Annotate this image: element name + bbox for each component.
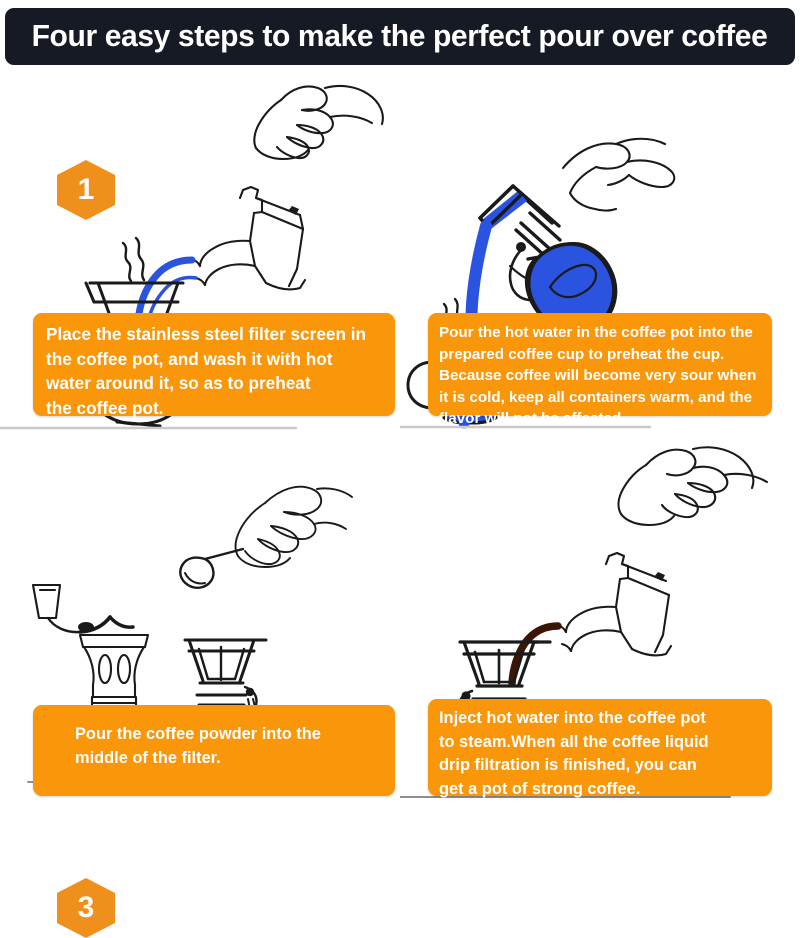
hand-icon (236, 487, 352, 567)
hand-icon (254, 86, 383, 159)
kettle-icon (557, 553, 671, 655)
step-number-3: 3 (78, 893, 95, 923)
step-number-1: 1 (78, 175, 95, 205)
step-caption-text-3: Pour the coffee powder into the middle o… (75, 722, 395, 770)
step-caption-text-2: Pour the hot water in the coffee pot int… (439, 322, 772, 430)
poster-title-bar: Four easy steps to make the perfect pour… (5, 8, 795, 65)
step-caption-text-4: Inject hot water into the coffee pot to … (439, 707, 772, 801)
step-caption-text-1: Place the stainless steel filter screen … (46, 322, 395, 420)
step-caption-box-1: Place the stainless steel filter screen … (33, 313, 395, 416)
kettle-icon (191, 187, 305, 289)
step-caption-box-3: Pour the coffee powder into the middle o… (33, 705, 395, 796)
hand-icon (619, 447, 767, 525)
steam-icon (123, 238, 144, 281)
step-caption-box-4: Inject hot water into the coffee pot to … (428, 699, 772, 796)
hand-icon (563, 139, 674, 211)
poster-title: Four easy steps to make the perfect pour… (32, 21, 768, 52)
spoon-icon (180, 549, 243, 588)
infographic-poster: Four easy steps to make the perfect pour… (0, 0, 800, 800)
step-caption-box-2: Pour the hot water in the coffee pot int… (428, 313, 772, 416)
step-badge-3: 3 (57, 878, 115, 938)
